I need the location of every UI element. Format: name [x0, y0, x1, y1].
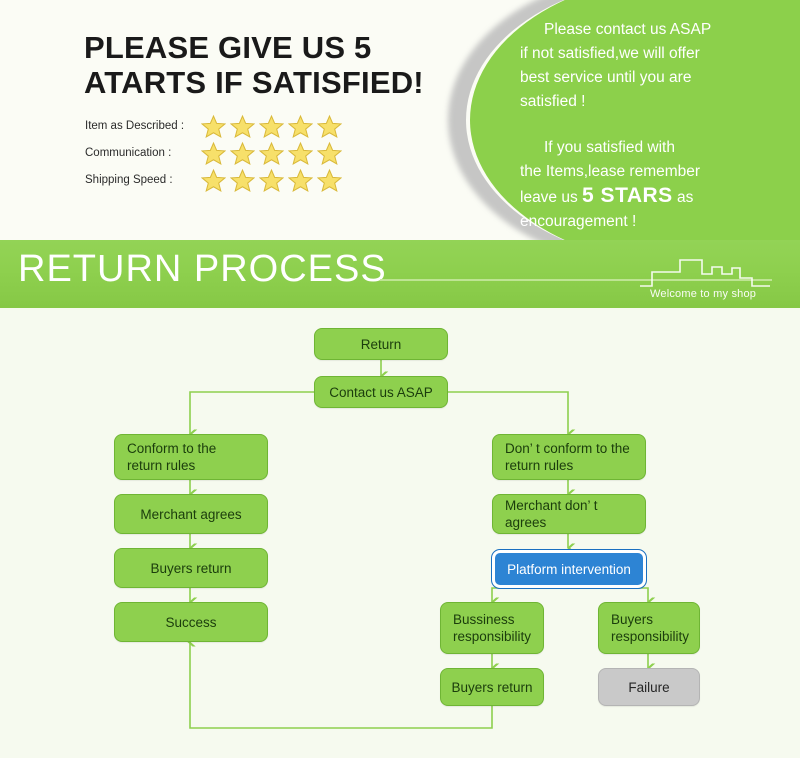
star-icon: [259, 168, 284, 193]
flow-node-merchant-dont-agrees[interactable]: Merchant don’ t agrees: [492, 494, 646, 534]
rating-row: Communication :: [85, 140, 342, 166]
flow-node-conform-to-return-rules[interactable]: Conform to the return rules: [114, 434, 268, 480]
star-icon: [201, 114, 226, 139]
flow-node-failure[interactable]: Failure: [598, 668, 700, 706]
promo-p1-line4: satisfied !: [520, 90, 790, 114]
promo-p2-line1: If you satisfied with: [520, 136, 790, 160]
rating-label: Item as Described :: [85, 120, 197, 132]
star-icon: [201, 141, 226, 166]
star-icon: [259, 141, 284, 166]
rating-label: Communication :: [85, 147, 197, 159]
star-icon: [288, 168, 313, 193]
promo-p1-line1: Please contact us ASAP: [520, 18, 790, 42]
rating-stars: [201, 168, 342, 193]
star-icon: [288, 141, 313, 166]
flow-node-contact-us-asap[interactable]: Contact us ASAP: [314, 376, 448, 408]
flow-node-merchant-agrees[interactable]: Merchant agrees: [114, 494, 268, 534]
return-process-flowchart: Return Contact us ASAP Conform to the re…: [0, 308, 800, 758]
headline-line-1: PLEASE GIVE US 5: [84, 30, 504, 65]
flow-node-buyers-return-right[interactable]: Buyers return: [440, 668, 544, 706]
star-icon: [259, 114, 284, 139]
rating-label: Shipping Speed :: [85, 174, 197, 186]
star-icon: [230, 114, 255, 139]
flow-node-bussiness-responsibility[interactable]: Bussiness responsibility: [440, 602, 544, 654]
flow-node-platform-intervention[interactable]: Platform intervention: [492, 550, 646, 588]
ratings-list: Item as Described : Communication :: [85, 113, 342, 194]
rating-stars: [201, 114, 342, 139]
header-promo-section: PLEASE GIVE US 5 ATARTS IF SATISFIED! It…: [0, 0, 800, 240]
star-icon: [317, 141, 342, 166]
flow-node-dont-conform-to-return-rules[interactable]: Don’ t conform to the return rules: [492, 434, 646, 480]
flow-node-buyers-return-left[interactable]: Buyers return: [114, 548, 268, 588]
banner-subtitle: Welcome to my shop: [650, 288, 756, 300]
promo-p2-line2: the Items,lease remember: [520, 160, 790, 184]
flow-node-buyers-responsibility[interactable]: Buyers responsibility: [598, 602, 700, 654]
star-icon: [201, 168, 226, 193]
rating-row: Shipping Speed :: [85, 167, 342, 193]
city-skyline-icon: [640, 246, 770, 290]
headline-line-2: ATARTS IF SATISFIED!: [84, 65, 504, 100]
promo-p2-pre: leave us: [520, 189, 582, 206]
page-root: PLEASE GIVE US 5 ATARTS IF SATISFIED! It…: [0, 0, 800, 758]
promo-p1-line2: if not satisfied,we will offer: [520, 42, 790, 66]
promo-p2-line3: leave us 5 STARS as: [520, 184, 790, 210]
star-icon: [288, 114, 313, 139]
star-icon: [317, 168, 342, 193]
promo-text: Please contact us ASAP if not satisfied,…: [520, 18, 790, 234]
star-icon: [230, 141, 255, 166]
star-icon: [317, 114, 342, 139]
banner-title: RETURN PROCESS: [18, 248, 387, 291]
promo-p2-line4: encouragement !: [520, 210, 790, 234]
promo-p1-line3: best service until you are: [520, 66, 790, 90]
star-icon: [230, 168, 255, 193]
rating-stars: [201, 141, 342, 166]
flow-node-success[interactable]: Success: [114, 602, 268, 642]
promo-stars-emphasis: 5 STARS: [582, 184, 673, 207]
rating-row: Item as Described :: [85, 113, 342, 139]
promo-p2-post: as: [673, 189, 694, 206]
page-title: PLEASE GIVE US 5 ATARTS IF SATISFIED!: [84, 30, 504, 100]
flow-node-return[interactable]: Return: [314, 328, 448, 360]
promo-spacer: [520, 114, 790, 136]
